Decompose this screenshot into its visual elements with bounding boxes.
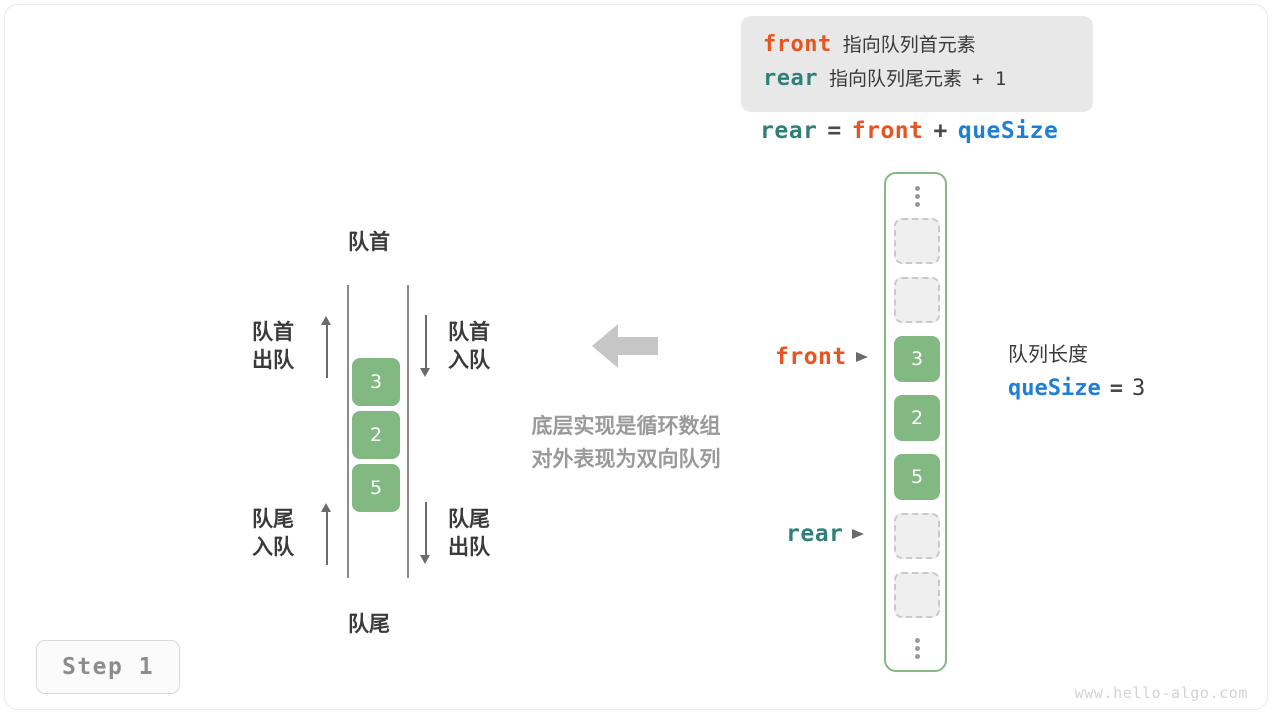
- deque-bottom-label: 队尾: [348, 610, 390, 638]
- deque-cell-0-value: 3: [370, 371, 382, 393]
- deque-top-label: 队首: [348, 228, 390, 256]
- arrow-up-icon-rear-enqueue: [320, 503, 333, 565]
- circular-array-container: 3 2 5: [884, 172, 947, 672]
- ellipsis-bottom-icon: [886, 630, 949, 666]
- op-label-front-dequeue: 队首 出队: [252, 318, 294, 374]
- arrow-down-icon-front-enqueue: [419, 315, 432, 377]
- big-left-arrow-icon: [592, 322, 658, 370]
- formula-rear: rear: [760, 118, 817, 144]
- center-note: 底层实现是循环数组 对外表现为双向队列: [503, 410, 749, 476]
- formula-plus: +: [934, 118, 948, 144]
- legend-suffix-rear: + 1: [972, 68, 1006, 90]
- arrow-right-icon: [852, 528, 867, 541]
- array-cell-5: [894, 513, 940, 559]
- deque-cell-2: 5: [352, 464, 400, 512]
- deque-cell-1: 2: [352, 411, 400, 459]
- center-note-line1: 底层实现是循环数组: [503, 410, 749, 443]
- legend-key-front: front: [763, 32, 832, 57]
- arrow-right-icon: [856, 351, 871, 364]
- op-label-rear-enqueue-line2: 入队: [252, 533, 294, 561]
- deque-rail-left: [347, 285, 349, 578]
- legend-desc-rear: 指向队列尾元素: [829, 64, 962, 91]
- formula-quesize: queSize: [958, 118, 1058, 144]
- array-pointer-rear-label: rear: [786, 521, 843, 547]
- deque-rail-right: [407, 285, 409, 578]
- queue-size-expression: queSize = 3: [1008, 376, 1154, 401]
- op-label-front-enqueue: 队首 入队: [448, 318, 490, 374]
- deque-cell-0: 3: [352, 358, 400, 406]
- center-note-line2: 对外表现为双向队列: [503, 443, 749, 476]
- array-cell-4: 5: [894, 454, 940, 500]
- op-label-front-enqueue-line2: 入队: [448, 346, 490, 374]
- queue-size-value: 3: [1132, 376, 1145, 401]
- op-label-rear-enqueue-line1: 队尾: [252, 505, 294, 533]
- op-label-front-dequeue-line1: 队首: [252, 318, 294, 346]
- array-pointer-front-label: front: [775, 344, 847, 370]
- legend-row-rear: rear 指向队列尾元素 + 1: [763, 64, 1093, 98]
- array-cell-4-value: 5: [911, 466, 923, 488]
- deque-cell-1-value: 2: [370, 424, 382, 446]
- array-cell-1: [894, 277, 940, 323]
- array-cell-3-value: 2: [911, 407, 923, 429]
- op-label-rear-dequeue-line1: 队尾: [448, 505, 490, 533]
- diagram-canvas: front 指向队列首元素 rear 指向队列尾元素 + 1 rear = fr…: [0, 0, 1280, 720]
- queue-size-title: 队列长度: [1008, 338, 1154, 367]
- deque-cell-2-value: 5: [370, 477, 382, 499]
- array-cell-6: [894, 572, 940, 618]
- formula-front: front: [852, 118, 924, 144]
- array-cell-0: [894, 218, 940, 264]
- array-pointer-front: front: [775, 344, 871, 370]
- formula-equals: =: [827, 118, 841, 144]
- legend-desc-front: 指向队列首元素: [843, 30, 976, 57]
- formula-rear-equals-front-plus-quesize: rear = front + queSize: [760, 118, 1068, 144]
- queue-size-note: 队列长度 queSize = 3: [1008, 338, 1154, 401]
- array-cell-2-value: 3: [911, 348, 923, 370]
- arrow-down-icon-rear-dequeue: [419, 502, 432, 564]
- legend-box: front 指向队列首元素 rear 指向队列尾元素 + 1: [741, 16, 1093, 112]
- array-cell-3: 2: [894, 395, 940, 441]
- legend-row-front: front 指向队列首元素: [763, 30, 1093, 64]
- op-label-rear-enqueue: 队尾 入队: [252, 505, 294, 561]
- queue-size-name: queSize: [1008, 376, 1101, 401]
- array-pointer-rear: rear: [786, 521, 867, 547]
- queue-size-equals: =: [1110, 376, 1123, 401]
- step-badge: Step 1: [36, 640, 180, 694]
- legend-key-rear: rear: [763, 66, 818, 91]
- op-label-front-enqueue-line1: 队首: [448, 318, 490, 346]
- ellipsis-top-icon: [886, 178, 949, 214]
- watermark: www.hello-algo.com: [1075, 684, 1248, 702]
- array-cell-2: 3: [894, 336, 940, 382]
- op-label-rear-dequeue-line2: 出队: [448, 533, 490, 561]
- op-label-rear-dequeue: 队尾 出队: [448, 505, 490, 561]
- arrow-up-icon-front-dequeue: [320, 316, 333, 378]
- op-label-front-dequeue-line2: 出队: [252, 346, 294, 374]
